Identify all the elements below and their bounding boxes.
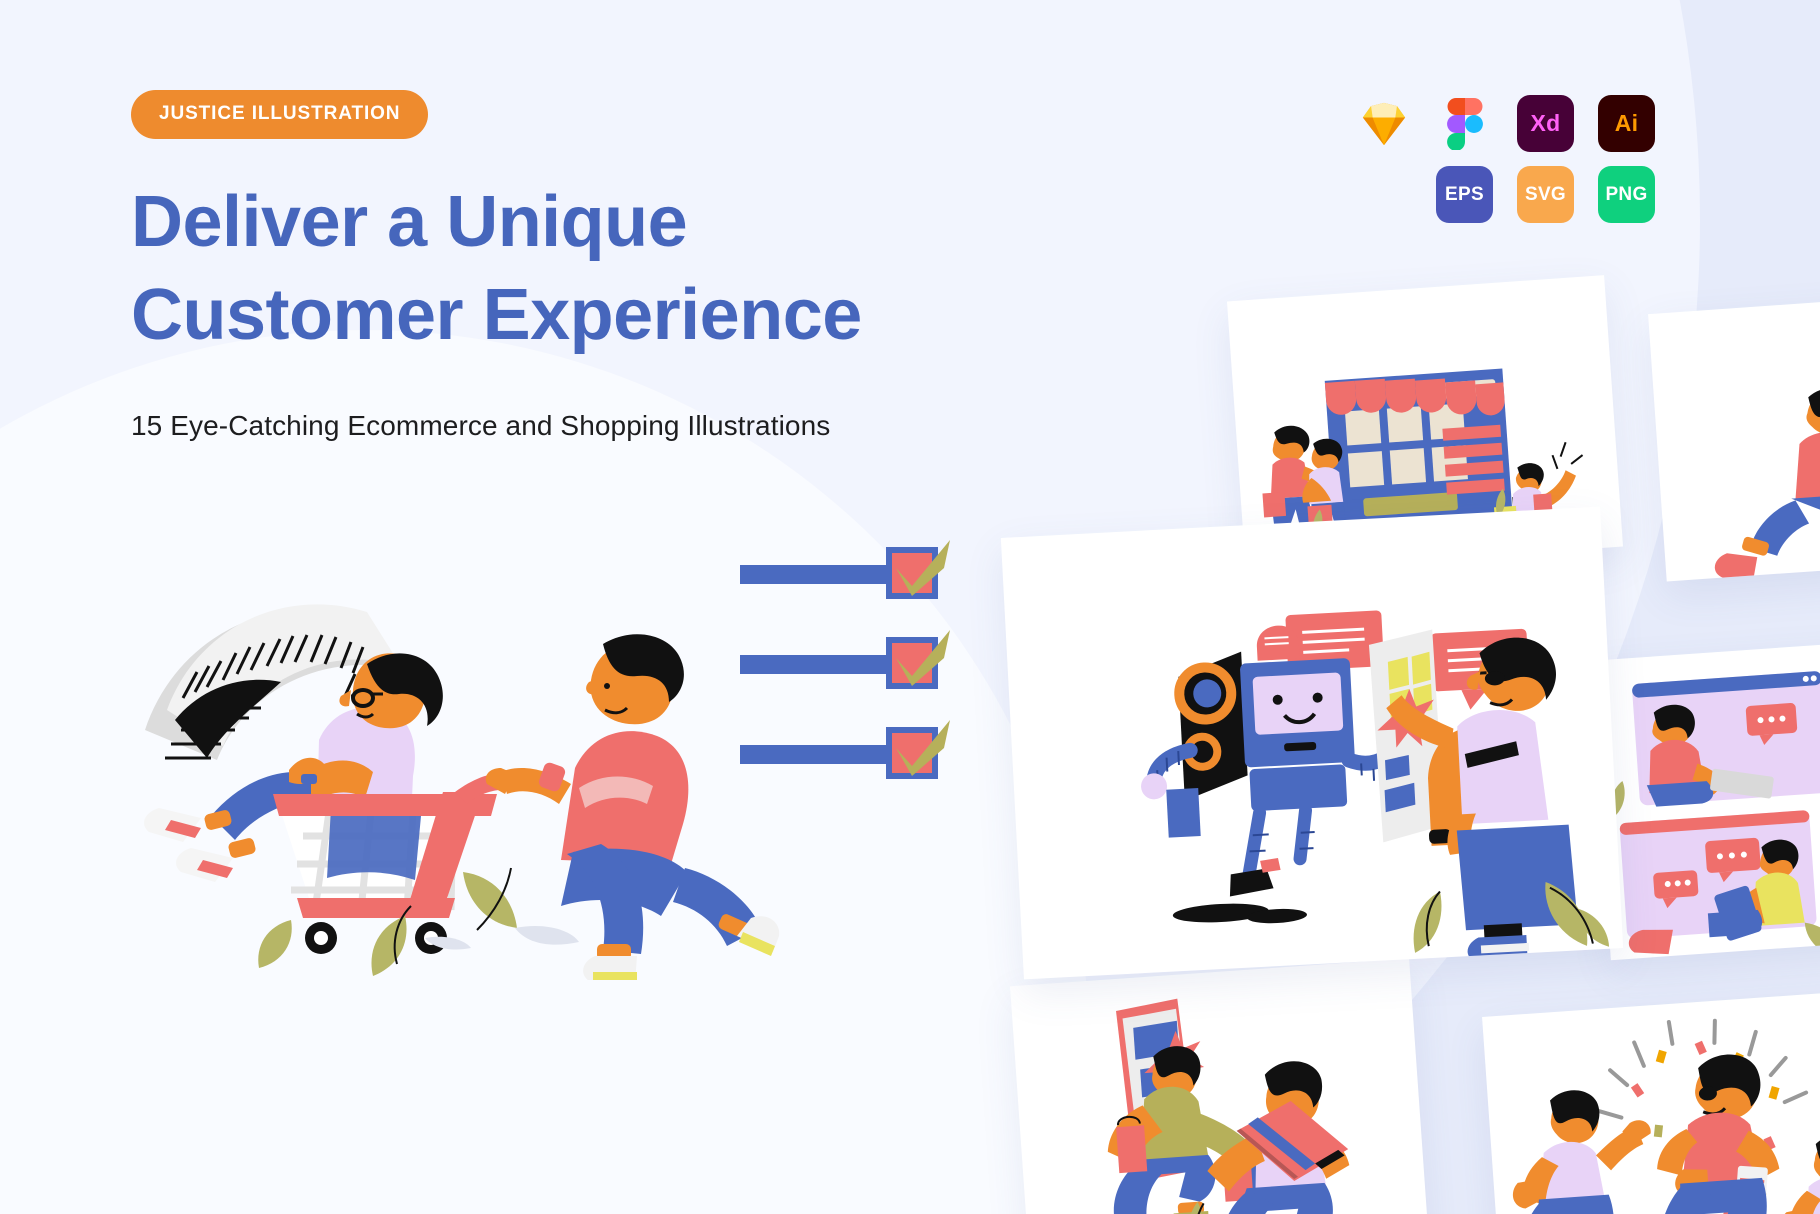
page-subtitle: 15 Eye-Catching Ecommerce and Shopping I… bbox=[131, 410, 830, 442]
card-robot-assistant[interactable] bbox=[1001, 507, 1623, 980]
png-badge: PNG bbox=[1598, 166, 1655, 223]
delivery-illustration bbox=[1010, 958, 1430, 1214]
figma-icon bbox=[1436, 95, 1493, 152]
online-chat-illustration bbox=[1590, 636, 1820, 960]
file-format-row-2: EPS SVG PNG bbox=[1436, 166, 1685, 223]
check-icon bbox=[890, 628, 952, 690]
page-title: Deliver a Unique Customer Experience bbox=[131, 176, 1031, 362]
headline-line-1: Deliver a Unique bbox=[131, 176, 1031, 269]
checklist-bar bbox=[740, 745, 898, 764]
check-icon bbox=[890, 718, 952, 780]
card-online-chat[interactable] bbox=[1590, 636, 1820, 960]
robot-assistant-illustration bbox=[1001, 507, 1623, 980]
svg-badge: SVG bbox=[1517, 166, 1574, 223]
adobe-illustrator-badge: Ai bbox=[1598, 95, 1655, 152]
scooter-illustration bbox=[1648, 290, 1820, 581]
check-icon bbox=[890, 538, 952, 600]
headline-line-2: Customer Experience bbox=[131, 269, 1031, 362]
file-format-badges: Xd Ai EPS SVG PNG bbox=[1355, 95, 1685, 223]
category-badge: JUSTICE ILLUSTRATION bbox=[131, 90, 428, 139]
card-scooter[interactable] bbox=[1648, 290, 1820, 581]
adobe-xd-badge: Xd bbox=[1517, 95, 1574, 152]
poster-canvas: JUSTICE ILLUSTRATION Deliver a Unique Cu… bbox=[0, 0, 1820, 1214]
card-delivery[interactable] bbox=[1010, 958, 1430, 1214]
eps-badge: EPS bbox=[1436, 166, 1493, 223]
checklist-bar bbox=[740, 565, 898, 584]
checklist-bar bbox=[740, 655, 898, 674]
sketch-icon bbox=[1355, 95, 1412, 152]
card-celebration[interactable] bbox=[1482, 988, 1820, 1214]
celebration-illustration bbox=[1482, 988, 1820, 1214]
file-format-row-1: Xd Ai bbox=[1355, 95, 1685, 152]
